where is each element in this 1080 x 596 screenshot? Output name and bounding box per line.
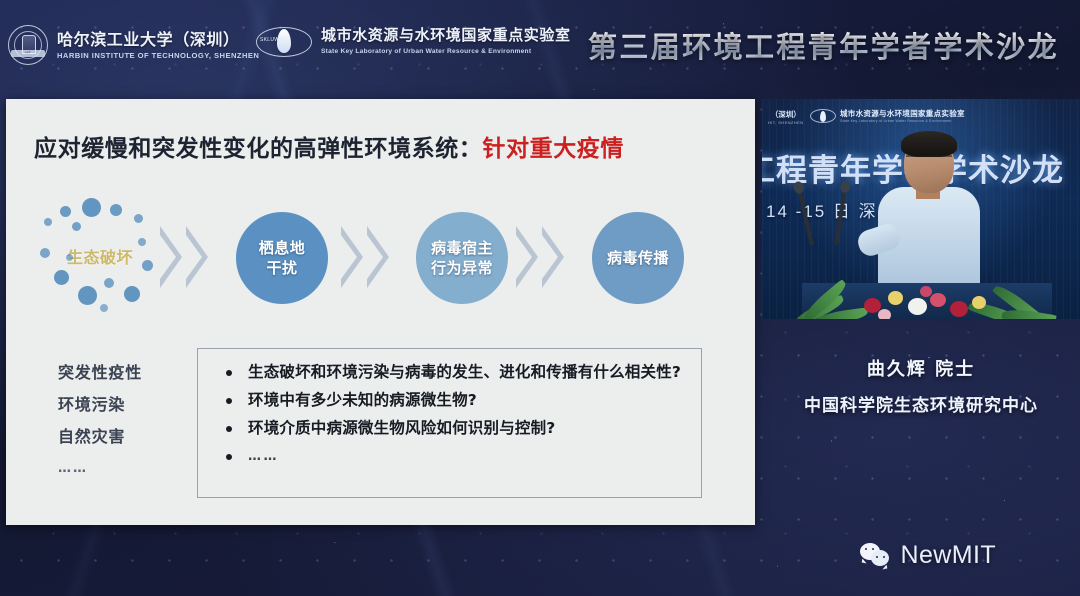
list-item: 环境中有多少未知的病源微生物? [220,389,685,412]
channel-watermark: NewMIT [860,541,996,570]
presentation-slide: 应对缓慢和突发性变化的高弹性环境系统：针对重大疫情 [6,99,755,525]
stage-logo-lab-cn: 城市水资源与水环境国家重点实验室 [840,108,965,119]
flow-node-4-label: 病毒传播 [607,248,669,268]
logo-lab-cn: 城市水资源与水环境国家重点实验室 [321,26,571,45]
flow-node-3-label2: 行为异常 [431,258,493,278]
podium-flowers [854,271,1004,319]
water-drop-lab-icon-2 [810,109,836,123]
slide-title-main: 应对缓慢和突发性变化的高弹性环境系统： [34,136,482,162]
flow-node-2-label2: 干扰 [266,258,297,278]
speaker-name: 曲久辉 院士 [762,355,1080,381]
speaker-video-panel[interactable]: （深圳） HIT, SHENZHEN 城市水资源与水环境国家重点实验室 Stat… [762,99,1080,319]
flow-node-host-behavior: 病毒宿主 行为异常 [416,212,508,304]
list-item: 生态破坏和环境污染与病毒的发生、进化和传播有什么相关性? [220,361,685,384]
stage-logo-hit-cn: （深圳） [768,109,803,120]
double-chevron-right-icon-3 [516,226,578,288]
logo-lab-en: State Key Laboratory of Urban Water Reso… [321,46,571,57]
speaker-affiliation: 中国科学院生态环境研究中心 [762,391,1080,416]
stage-logo-hit: （深圳） HIT, SHENZHEN [768,109,803,125]
stage-logo-lab: 城市水资源与水环境国家重点实验室 State Key Laboratory of… [810,108,965,123]
stage-logo-lab-en: State Key Laboratory of Urban Water Reso… [840,119,965,123]
hit-crest-band-text: HIT [11,50,45,57]
flow-node-virus-transmission: 病毒传播 [592,212,684,304]
flow-node-habitat-disturbance: 栖息地 干扰 [236,212,328,304]
slide-title: 应对缓慢和突发性变化的高弹性环境系统：针对重大疫情 [34,129,624,163]
header-banner: HIT 哈尔滨工业大学（深圳） HARBIN INSTITUTE OF TECH… [0,0,1080,92]
driver-label-1: 环境污染 [58,389,188,421]
logo-hit-en: HARBIN INSTITUTE OF TECHNOLOGY, SHENZHEN [57,50,259,61]
logo-hit: HIT 哈尔滨工业大学（深圳） HARBIN INSTITUTE OF TECH… [8,25,259,65]
logo-lab-text: 城市水资源与水环境国家重点实验室 State Key Laboratory of… [321,26,571,57]
speaker-caption: 曲久辉 院士 中国科学院生态环境研究中心 [762,355,1080,416]
list-item: …… [220,445,685,468]
logo-hit-cn: 哈尔滨工业大学（深圳） [57,30,259,49]
double-chevron-right-icon [160,226,222,288]
logo-hit-text: 哈尔滨工业大学（深圳） HARBIN INSTITUTE OF TECHNOLO… [57,30,259,61]
stage-logo-hit-en: HIT, SHENZHEN [768,120,803,125]
lab-crest-abbr: SKLUWRE [260,37,287,43]
flow-node-ecological-damage: 生态破坏 [54,212,146,304]
research-questions-box: 生态破坏和环境污染与病毒的发生、进化和传播有什么相关性? 环境中有多少未知的病源… [197,348,702,498]
driver-label-3: …… [58,453,188,485]
flow-node-2-label: 栖息地 [259,238,306,258]
wechat-icon [860,543,892,569]
logo-state-key-lab: SKLUWRE 城市水资源与水环境国家重点实验室 State Key Labor… [256,26,571,57]
screencast-viewport: HIT 哈尔滨工业大学（深圳） HARBIN INSTITUTE OF TECH… [0,0,1080,596]
hit-crest-icon: HIT [8,25,48,65]
research-questions-list: 生态破坏和环境污染与病毒的发生、进化和传播有什么相关性? 环境中有多少未知的病源… [198,361,701,468]
watermark-label: NewMIT [901,541,996,570]
slide-title-accent: 针对重大疫情 [482,136,624,162]
flow-node-3-label: 病毒宿主 [431,238,493,258]
stage-logo-row: （深圳） HIT, SHENZHEN 城市水资源与水环境国家重点实验室 Stat… [762,108,1080,128]
driver-label-list: 突发性疫性 环境污染 自然灾害 …… [58,357,188,485]
driver-label-0: 突发性疫性 [58,357,188,389]
water-drop-lab-icon: SKLUWRE [256,27,312,57]
flow-node-1-label: 生态破坏 [67,248,133,268]
process-flow-diagram: 生态破坏 栖息地 干扰 病毒宿主 行为异常 病毒传播 [36,212,726,312]
list-item: 环境介质中病源微生物风险如何识别与控制? [220,417,685,440]
event-title: 第三届环境工程青年学者学术沙龙 [588,24,1059,66]
double-chevron-right-icon-2 [341,226,403,288]
driver-label-2: 自然灾害 [58,421,188,453]
